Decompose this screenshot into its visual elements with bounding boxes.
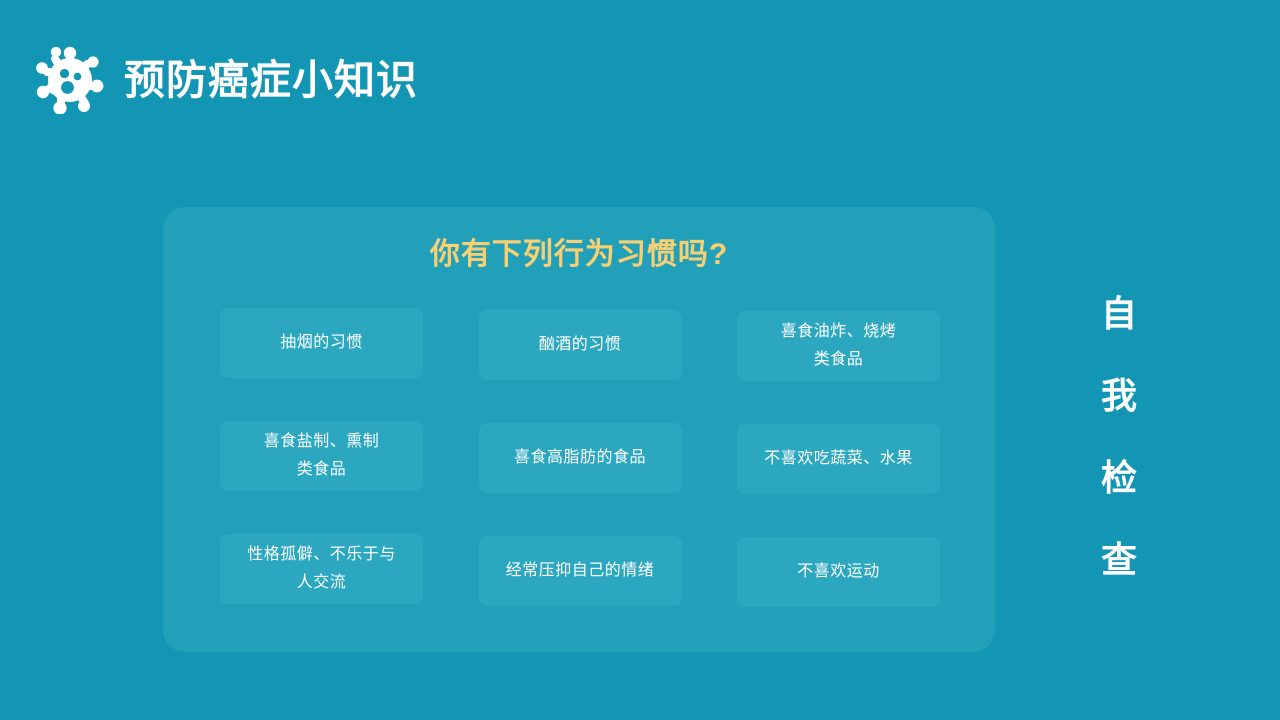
vertical-char: 自	[1095, 296, 1143, 332]
habit-card-label: 不喜欢运动	[797, 558, 880, 586]
habit-row: 喜食盐制、熏制 类食品 喜食高脂肪的食品 不喜欢吃蔬菜、水果	[220, 421, 940, 494]
slide-header: 预防癌症小知识	[36, 46, 418, 114]
habit-card[interactable]: 不喜欢吃蔬菜、水果	[737, 424, 940, 494]
habit-card-label: 喜食高脂肪的食品	[514, 444, 646, 472]
habit-card[interactable]: 喜食高脂肪的食品	[479, 423, 682, 493]
vertical-char: 检	[1095, 460, 1143, 496]
page-title: 预防癌症小知识	[124, 60, 418, 101]
habit-card-label: 性格孤僻、不乐于与 人交流	[247, 541, 396, 597]
habit-card-label: 喜食盐制、熏制 类食品	[264, 428, 380, 484]
habit-card[interactable]: 酗酒的习惯	[479, 310, 682, 380]
panel-heading: 你有下列行为习惯吗?	[163, 240, 995, 270]
habit-card-label: 抽烟的习惯	[280, 329, 363, 357]
habit-card-label: 经常压抑自己的情绪	[506, 557, 655, 585]
habit-row: 性格孤僻、不乐于与 人交流 经常压抑自己的情绪 不喜欢运动	[220, 534, 940, 607]
vertical-char: 查	[1095, 542, 1143, 578]
habit-card[interactable]: 不喜欢运动	[737, 537, 940, 607]
habit-card[interactable]: 经常压抑自己的情绪	[479, 536, 682, 606]
habit-card[interactable]: 性格孤僻、不乐于与 人交流	[220, 534, 423, 604]
virus-cell-icon	[36, 46, 104, 114]
habit-card[interactable]: 喜食盐制、熏制 类食品	[220, 421, 423, 491]
habit-card[interactable]: 抽烟的习惯	[220, 308, 423, 378]
slide-root: 预防癌症小知识 你有下列行为习惯吗? 抽烟的习惯 酗酒的习惯 喜食油炸、烧烤 类…	[0, 0, 1280, 720]
habit-row: 抽烟的习惯 酗酒的习惯 喜食油炸、烧烤 类食品	[220, 308, 940, 381]
habits-panel: 你有下列行为习惯吗? 抽烟的习惯 酗酒的习惯 喜食油炸、烧烤 类食品 喜食盐制、…	[163, 207, 995, 652]
habit-card-grid: 抽烟的习惯 酗酒的习惯 喜食油炸、烧烤 类食品 喜食盐制、熏制 类食品 喜食高脂…	[220, 308, 940, 607]
habit-card[interactable]: 喜食油炸、烧烤 类食品	[737, 311, 940, 381]
habit-card-label: 酗酒的习惯	[539, 331, 622, 359]
self-check-vertical-label: 自 我 检 查	[1095, 296, 1143, 578]
habit-card-label: 喜食油炸、烧烤 类食品	[781, 318, 897, 374]
habit-card-label: 不喜欢吃蔬菜、水果	[764, 445, 913, 473]
vertical-char: 我	[1095, 378, 1143, 414]
